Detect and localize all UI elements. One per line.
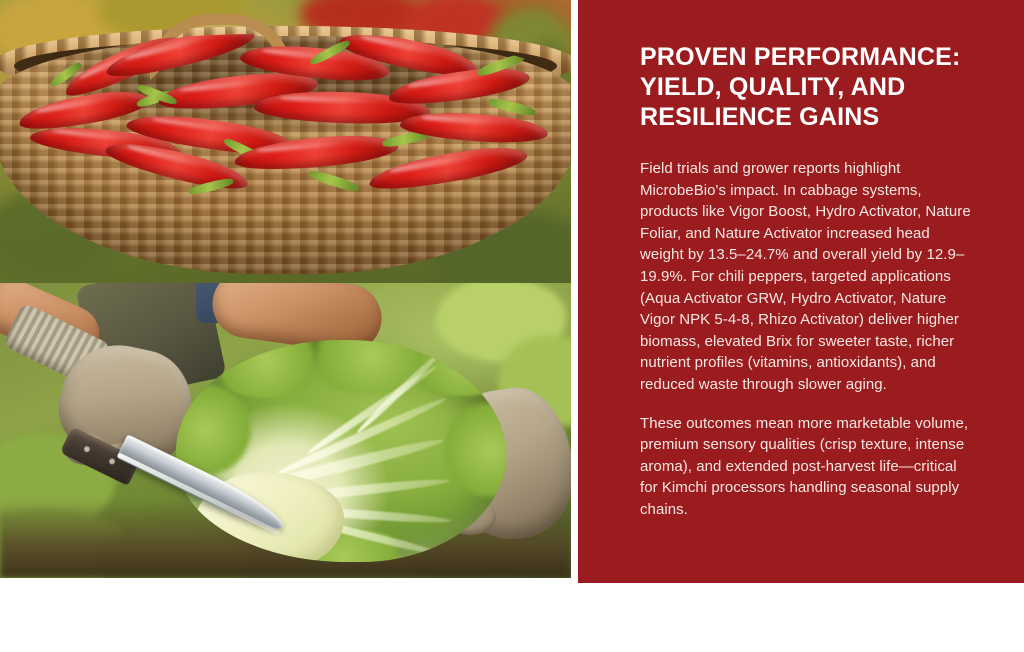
napa-cabbage-head [176,340,506,562]
red-text-panel: PROVEN PERFORMANCE: YIELD, QUALITY, AND … [578,0,1024,583]
photo-farmer-harvesting-napa-cabbage [0,283,571,578]
chili-pepper-pile [8,34,564,210]
page-title: PROVEN PERFORMANCE: YIELD, QUALITY, AND … [640,42,972,132]
body-paragraph-2: These outcomes mean more marketable volu… [640,413,972,521]
panel-content: PROVEN PERFORMANCE: YIELD, QUALITY, AND … [640,42,972,521]
paragraph-spacer [640,396,972,413]
photo-column [0,0,571,578]
heading-body-spacer [640,132,972,158]
body-paragraph-1: Field trials and grower reports highligh… [640,158,972,396]
document-page: PROVEN PERFORMANCE: YIELD, QUALITY, AND … [0,0,1024,652]
photo-red-chili-peppers-in-wicker-basket [0,0,571,283]
